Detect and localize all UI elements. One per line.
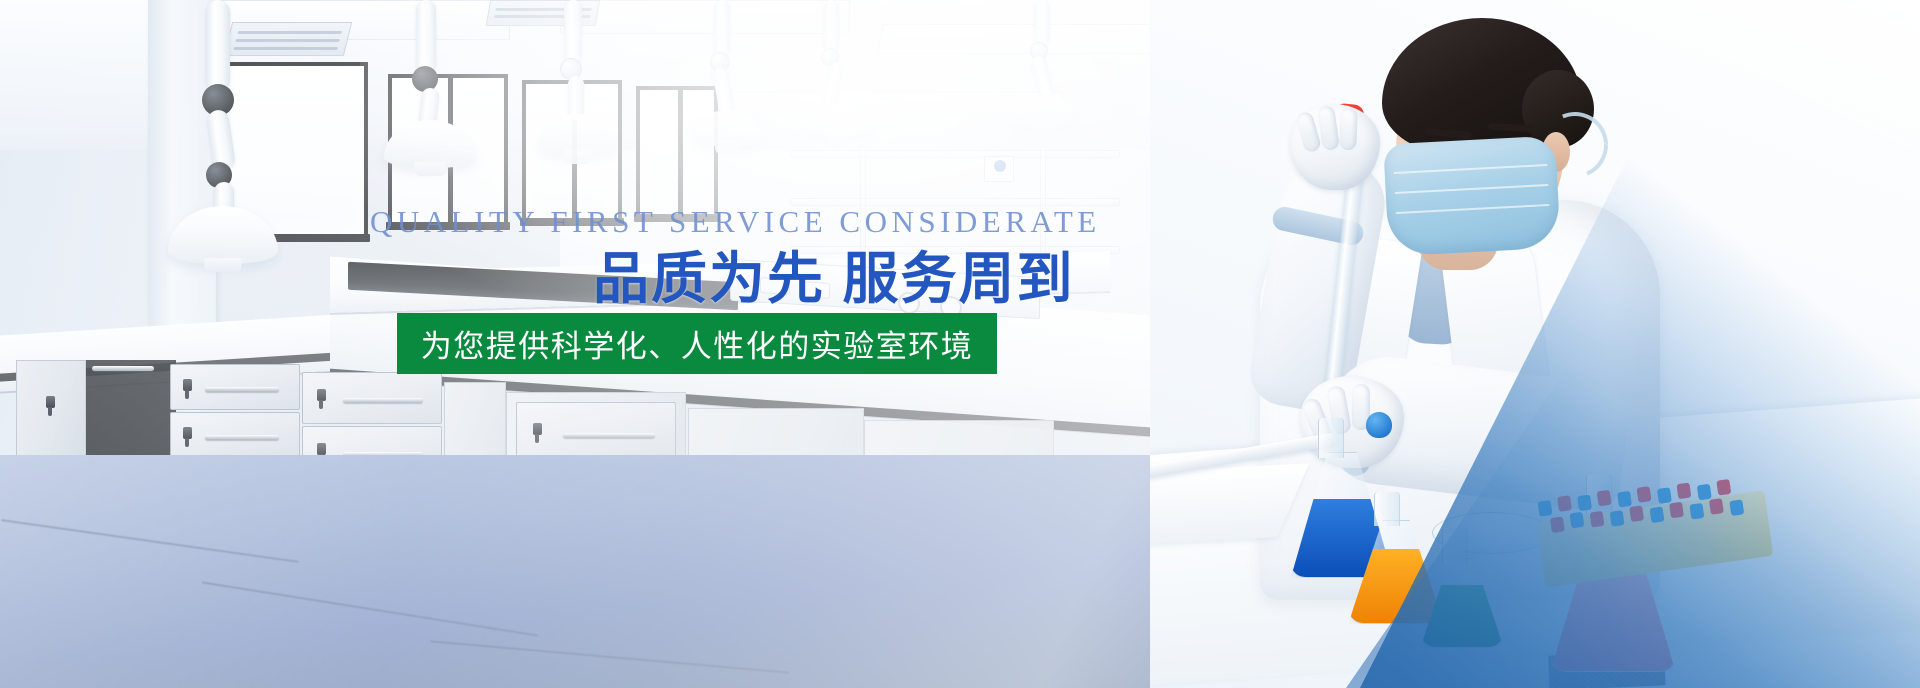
tip [1597,490,1612,507]
tip [1617,491,1632,508]
ceiling-light-panel [697,92,1063,114]
tip [1610,510,1625,527]
shelf-upright [860,146,866,258]
bench-socket [800,281,830,299]
drawer-lock-icon [317,389,326,401]
tip [1689,503,1704,520]
shelf-upright [1040,146,1046,258]
wall-shelf [790,150,1120,158]
blue-droplet [1366,412,1392,438]
tip [1669,502,1684,519]
tip [1569,512,1584,529]
ceiling-light-panel [560,0,850,34]
tip [1676,483,1691,500]
tip [1697,484,1712,501]
drawer-handle [92,366,154,371]
bench-socket [760,277,790,295]
drawer [170,412,300,458]
tip [1550,516,1565,533]
tip [1657,487,1672,504]
drawer [302,372,442,424]
tip [1709,498,1724,515]
drawer-handle [205,435,279,440]
tip [1629,505,1644,522]
flask-neck [1442,528,1468,564]
bench-socket [898,291,920,314]
scientist-at-bench-photo [1150,0,1920,688]
finger [1339,108,1357,151]
tip [1577,494,1592,511]
tip [1590,511,1605,528]
wall-shelf [790,198,1120,206]
drawer [170,364,300,410]
flask-neck [1318,418,1344,458]
drawer-handle [343,398,423,403]
subtitle-text: 为您提供科学化、人性化的实验室环境 [421,321,974,366]
drawer [516,402,676,460]
tip [1557,495,1572,512]
laboratory-hero-banner: QUALITY FIRST SERVICE CONSIDERATE 品质为先 服… [0,0,1920,688]
drawer-lock-icon [317,443,326,455]
tip [1637,486,1652,503]
tip [1716,479,1731,496]
drawer-handle [205,387,279,392]
window [636,86,718,218]
shelf-sign-icon [984,156,1014,182]
ceiling-ac-vent [224,22,352,56]
tip [1650,507,1665,524]
ceiling-ac-vent [486,0,601,26]
drawer-handle [563,433,655,438]
tip [1538,500,1553,517]
flask-neck [1374,492,1400,526]
subtitle-band: 为您提供科学化、人性化的实验室环境 [397,313,997,374]
drawer-lock-icon [183,427,192,439]
drawer-lock-icon [533,423,542,435]
drawer-lock-icon [183,379,192,391]
cabinet-lock-icon [46,396,55,408]
surgical-mask [1383,136,1561,257]
tip [1729,499,1744,516]
